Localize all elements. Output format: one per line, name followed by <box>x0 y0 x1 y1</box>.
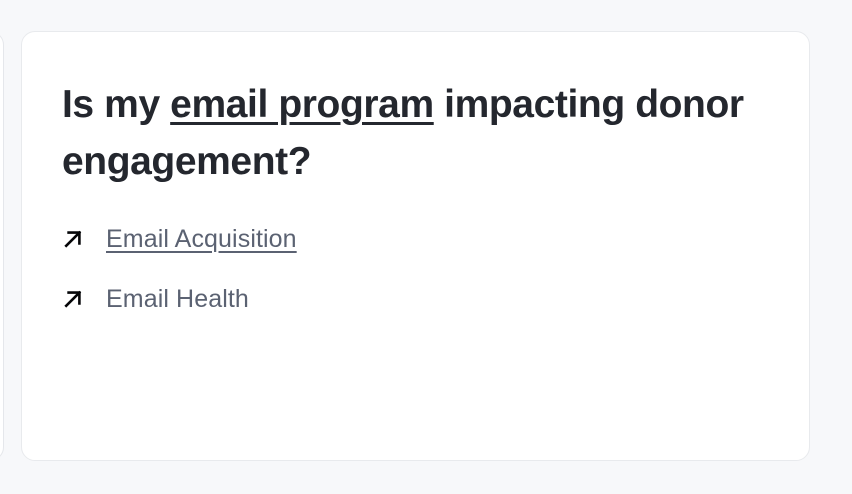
question-card: Is my email program impacting donor enga… <box>21 31 810 461</box>
card-title-lead: Is my <box>62 83 170 126</box>
card-title-emphasis: email program <box>170 83 434 126</box>
link-label: Email Acquisition <box>106 224 297 254</box>
adjacent-card-peek[interactable] <box>0 31 4 461</box>
link-email-health[interactable]: Email Health <box>62 284 249 314</box>
link-label: Email Health <box>106 284 249 314</box>
card-title: Is my email program impacting donor enga… <box>62 76 762 190</box>
arrow-up-right-icon <box>62 288 84 310</box>
link-email-acquisition[interactable]: Email Acquisition <box>62 224 297 254</box>
arrow-up-right-icon <box>62 228 84 250</box>
card-link-list: Email Acquisition Email Health <box>62 224 769 314</box>
